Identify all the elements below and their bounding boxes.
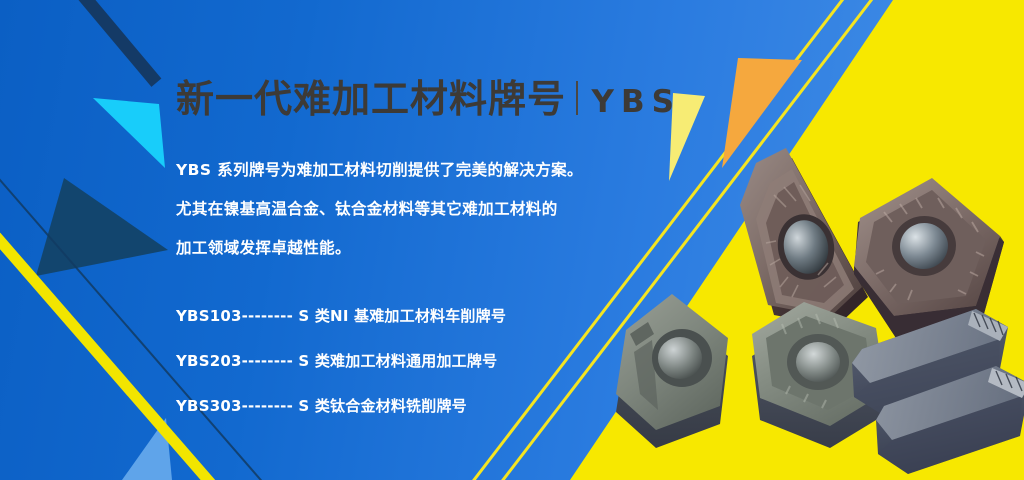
navy-diagonal-bar [55,0,161,87]
navy-triangle [36,178,168,276]
product-images [590,150,1024,480]
grade-item-ybs103: YBS103-------- S 类NI 基难加工材料车削牌号 [176,305,506,326]
grooving-bar-insert-front [872,358,1024,480]
banner-headline: 新一代难加工材料牌号 YBS [176,68,681,123]
product-banner: 新一代难加工材料牌号 YBS YBS 系列牌号为难加工材料切削提供了完美的解决方… [0,0,1024,480]
headline-divider [576,81,578,115]
grade-item-ybs303: YBS303-------- S 类钛合金材料铣削牌号 [176,395,506,416]
headline-brand: YBS [592,84,681,120]
pentagon-milling-insert [600,290,755,450]
headline-chinese: 新一代难加工材料牌号 [176,68,566,123]
grade-item-ybs203: YBS203-------- S 类难加工材料通用加工牌号 [176,350,506,371]
grade-list: YBS103-------- S 类NI 基难加工材料车削牌号 YBS203--… [176,305,506,440]
cyan-triangle [93,98,165,168]
